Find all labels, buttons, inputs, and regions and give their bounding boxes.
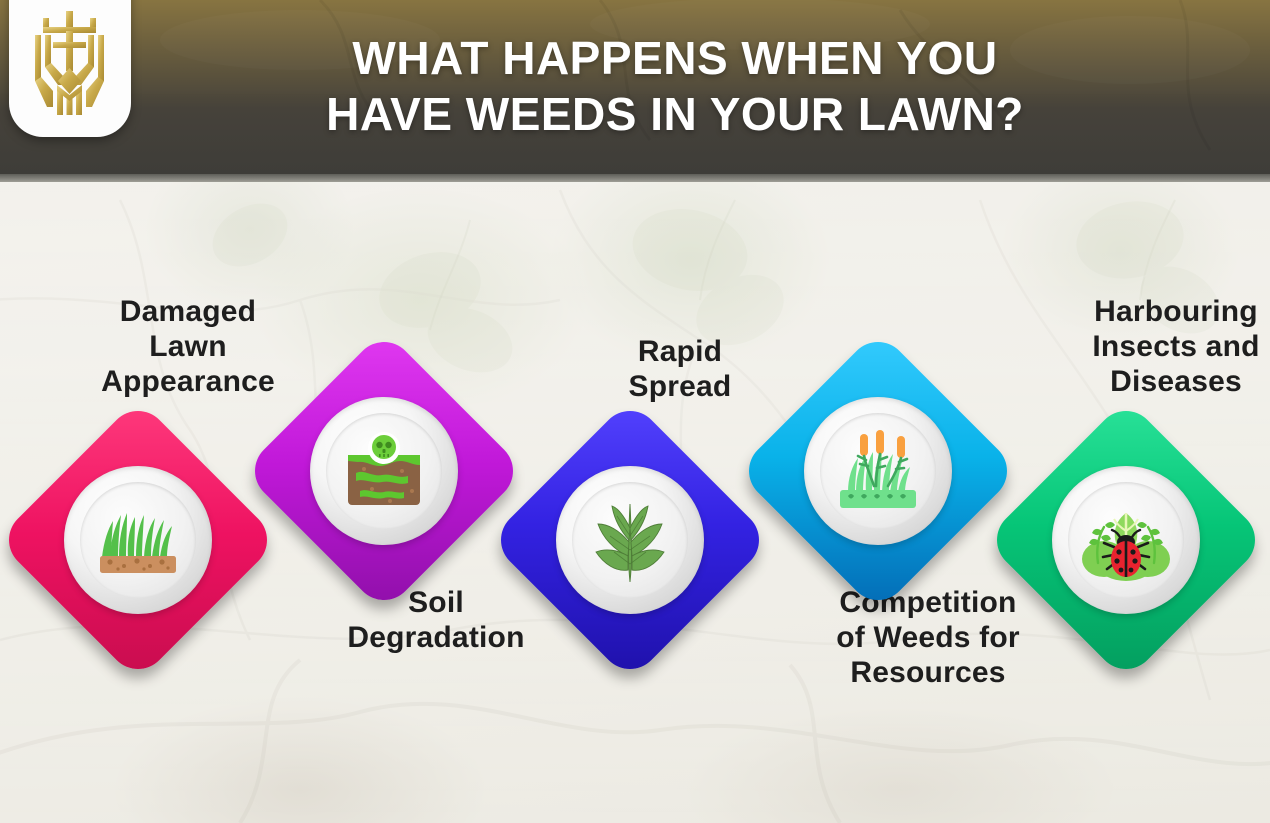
soil-toxicity-skull-icon xyxy=(342,431,426,511)
title-line-1: WHAT HAPPENS WHEN YOU xyxy=(352,32,997,84)
icon-well xyxy=(80,482,196,598)
icon-ring xyxy=(310,397,458,545)
page-title: WHAT HAPPENS WHEN YOU HAVE WEEDS IN YOUR… xyxy=(150,30,1200,142)
card-rapid-spread[interactable]: Rapid Spread xyxy=(530,440,730,640)
icon-well xyxy=(820,413,936,529)
header-banner: WHAT HAPPENS WHEN YOU HAVE WEEDS IN YOUR… xyxy=(0,0,1270,182)
title-line-2: HAVE WEEDS IN YOUR LAWN? xyxy=(150,86,1200,142)
weed-leaf-icon xyxy=(584,494,676,586)
icon-ring xyxy=(1052,466,1200,614)
card-label: Harbouring Insects and Diseases xyxy=(1016,295,1270,399)
diamond-shape xyxy=(243,330,526,613)
grass-soil-icon xyxy=(94,501,182,579)
icon-well xyxy=(326,413,442,529)
gold-crown-emblem-icon xyxy=(31,11,109,115)
diamond-shape xyxy=(985,399,1268,682)
card-harbouring-insects-diseases[interactable]: Harbouring Insects and Diseases xyxy=(1026,440,1226,640)
icon-well xyxy=(1068,482,1184,598)
grass-shoots-competition-icon xyxy=(832,428,924,514)
card-damaged-lawn-appearance[interactable]: Damaged Lawn Appearance xyxy=(38,440,238,640)
diamond-shape xyxy=(489,399,772,682)
icon-ring xyxy=(64,466,212,614)
icon-ring xyxy=(804,397,952,545)
ladybug-leaves-icon xyxy=(1078,497,1174,583)
brand-logo-badge[interactable] xyxy=(9,0,131,137)
card-competition-for-resources[interactable]: Competition of Weeds for Resources xyxy=(778,371,978,571)
diamond-shape xyxy=(0,399,279,682)
card-soil-degradation[interactable]: Soil Degradation xyxy=(284,371,484,571)
diamond-shape xyxy=(737,330,1020,613)
icon-ring xyxy=(556,466,704,614)
icon-well xyxy=(572,482,688,598)
